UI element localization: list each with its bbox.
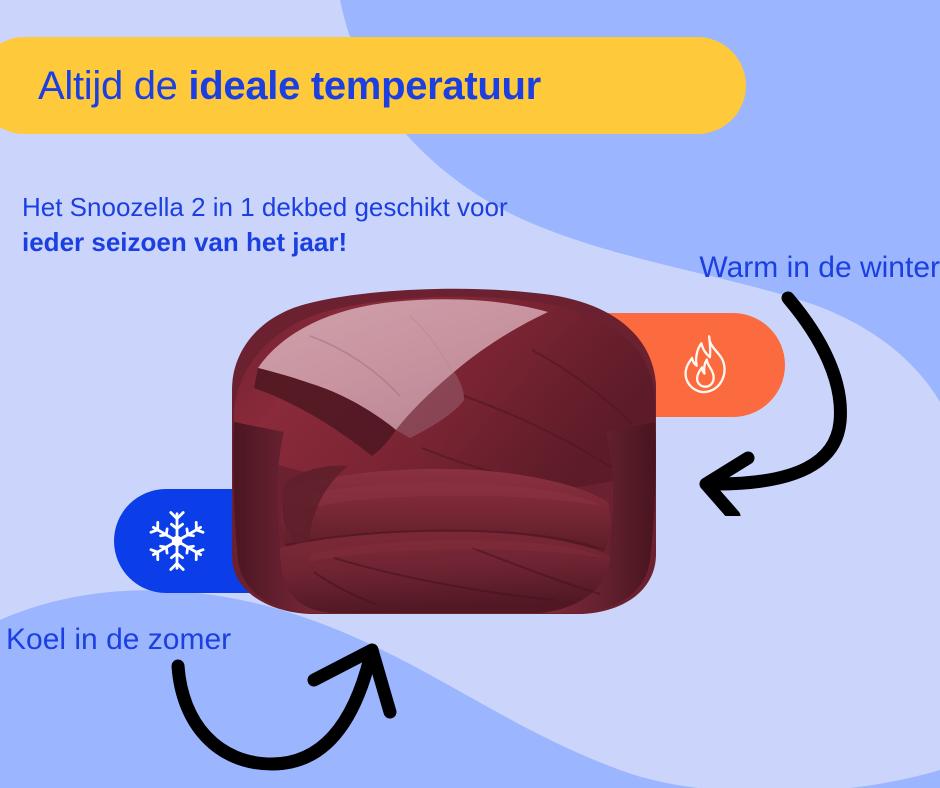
arrow-summer-shaft [178, 658, 370, 764]
subtitle: Het Snoozella 2 in 1 dekbed geschikt voo… [22, 190, 508, 259]
title-light-part: Altijd de [38, 64, 188, 108]
title-bold-part: ideale temperatuur [188, 64, 541, 108]
subtitle-line-2: ieder seizoen van het jaar! [22, 225, 508, 260]
arrow-to-warm-pill [672, 286, 940, 516]
callout-label-winter: Warm in de winter [699, 253, 940, 283]
title-banner: Altijd de ideale temperatuur [0, 37, 746, 134]
subtitle-line-1: Het Snoozella 2 in 1 dekbed geschikt voo… [22, 190, 508, 225]
arrow-to-cool-pill [168, 638, 458, 788]
product-image-duvet [214, 272, 674, 622]
snowflake-icon [146, 510, 208, 572]
arrow-winter-shaft [716, 298, 840, 484]
promo-banner-stage: Altijd de ideale temperatuur Het Snoozel… [0, 0, 940, 788]
page-title: Altijd de ideale temperatuur [38, 66, 541, 106]
